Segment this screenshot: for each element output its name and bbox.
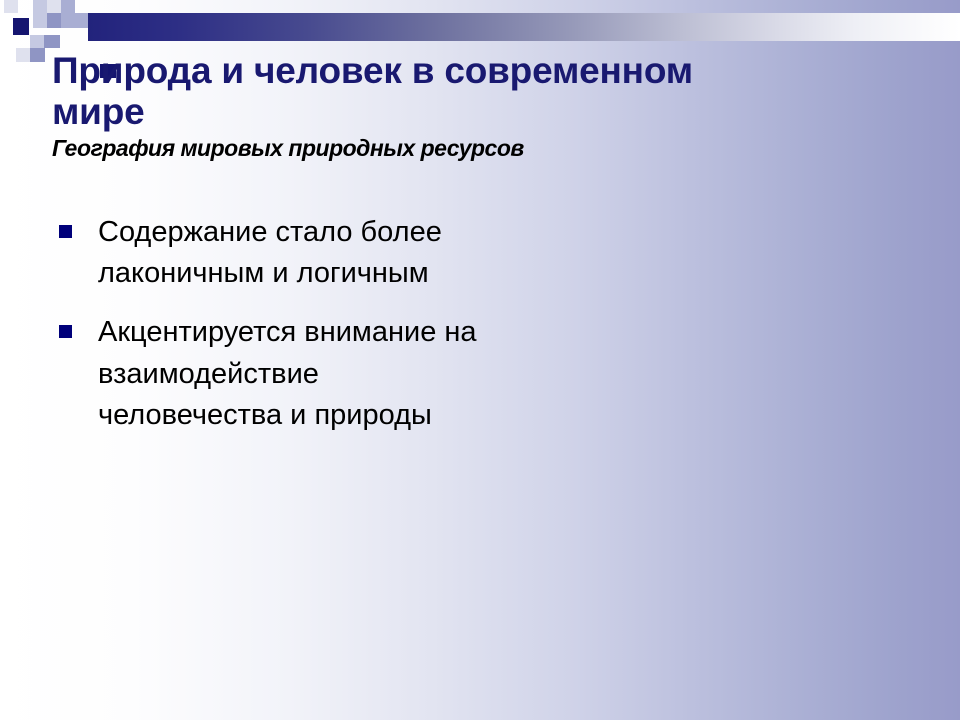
slide-body-bullet-list: Содержание стало более лаконичным и логи… — [54, 212, 484, 436]
mosaic-square-light-3 — [30, 35, 44, 48]
square-bullet-icon — [59, 225, 72, 238]
mosaic-square-mid-5 — [30, 48, 45, 62]
mosaic-square-mid-1 — [61, 0, 75, 13]
mosaic-square-light-2 — [33, 13, 47, 28]
presentation-slide: Природа и человек в современном мире Гео… — [0, 0, 960, 720]
mosaic-square-mid-3 — [61, 13, 88, 28]
square-bullet-icon — [59, 325, 72, 338]
mosaic-square-navy-1 — [13, 18, 29, 35]
slide-title: Природа и человек в современном мире — [52, 50, 752, 133]
mosaic-square-light-1 — [33, 0, 47, 13]
bullet-item-text: Акцентируется внимание на взаимодействие… — [98, 312, 484, 436]
bullet-item-text: Содержание стало более лаконичным и логи… — [98, 212, 484, 294]
mosaic-square-mid-4 — [44, 35, 60, 48]
header-gradient-bar — [88, 13, 960, 41]
mosaic-square-pale-1 — [4, 0, 18, 13]
slide-title-block: Природа и человек в современном мире Гео… — [52, 50, 752, 161]
mosaic-square-mid-2 — [47, 13, 61, 28]
bullet-list-item-1: Содержание стало более лаконичным и логи… — [54, 212, 484, 294]
mosaic-square-pale-2 — [47, 0, 61, 13]
bullet-list-item-2: Акцентируется внимание на взаимодействие… — [54, 312, 484, 436]
slide-subtitle: География мировых природных ресурсов — [52, 135, 752, 161]
mosaic-square-pale-3 — [16, 48, 30, 62]
